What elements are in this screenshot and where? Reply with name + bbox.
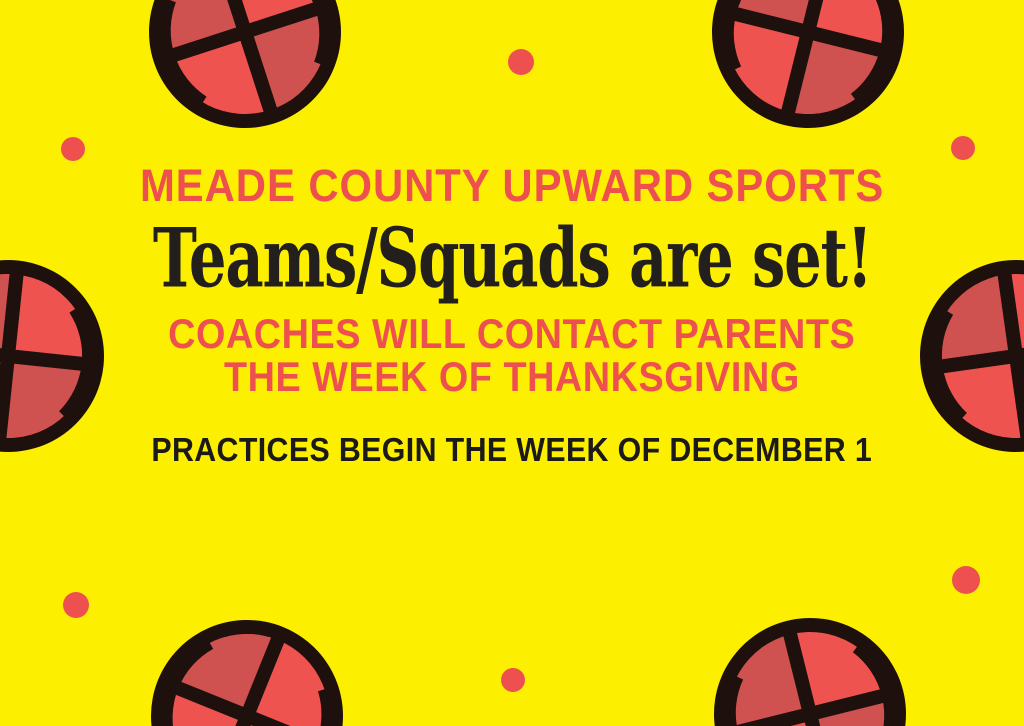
poster-text-content: MEADE COUNTY UPWARD SPORTS Teams/Squads … xyxy=(0,0,1024,726)
subtitle-line-1: COACHES WILL CONTACT PARENTS xyxy=(168,312,855,355)
page-title: Teams/Squads are set! xyxy=(153,218,872,299)
poster-canvas: MEADE COUNTY UPWARD SPORTS Teams/Squads … xyxy=(0,0,1024,726)
subtitle-line-2: THE WEEK OF THANKSGIVING xyxy=(224,355,800,398)
subtitle-block: COACHES WILL CONTACT PARENTS THE WEEK OF… xyxy=(130,312,893,399)
practice-start-note: PRACTICES BEGIN THE WEEK OF DECEMBER 1 xyxy=(152,433,873,466)
organization-name: MEADE COUNTY UPWARD SPORTS xyxy=(140,163,884,208)
